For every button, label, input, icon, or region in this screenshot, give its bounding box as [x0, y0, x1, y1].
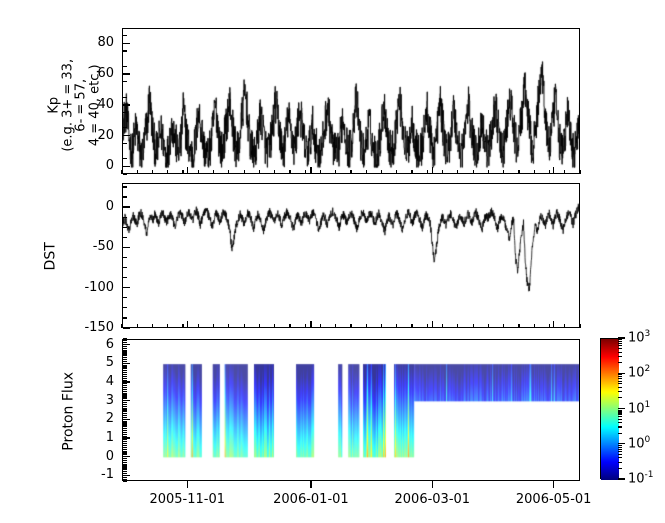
colorbar-minor-tick [618, 445, 622, 446]
xtick-minor [274, 170, 275, 174]
colorbar: 10310210110010-1 [600, 338, 664, 480]
xtick-minor [427, 324, 428, 328]
ytick-minor [123, 376, 127, 377]
ytick-major [123, 437, 130, 438]
colorbar-canvas [601, 339, 619, 480]
ytick-minor [123, 432, 127, 433]
xtick-minor [228, 170, 229, 174]
xtick-minor [442, 324, 443, 328]
xtick-minor [564, 170, 565, 174]
ytick-minor [123, 443, 127, 444]
xtick-minor [320, 324, 321, 328]
colorbar-major-tick [618, 373, 625, 374]
colorbar-gradient [600, 338, 618, 479]
ytick-minor [123, 477, 127, 478]
ytick-label: -100 [66, 281, 114, 294]
ytick-minor [123, 467, 127, 468]
xtick-minor [534, 170, 535, 174]
xtick-minor [121, 170, 122, 174]
xtick-minor [549, 170, 550, 174]
kp-panel [122, 28, 580, 174]
ytick-minor [123, 428, 127, 429]
ytick-minor [123, 196, 127, 197]
xtick-minor [457, 324, 458, 328]
xtick-minor [167, 324, 168, 328]
ytick-major [123, 475, 130, 476]
ytick-minor [123, 357, 127, 358]
ytick-minor [123, 430, 127, 431]
dst-panel [122, 183, 580, 328]
colorbar-minor-tick [618, 451, 622, 452]
xtick-minor [366, 170, 367, 174]
ytick-minor [123, 408, 127, 409]
ytick-minor [123, 340, 127, 341]
ytick-minor [123, 404, 127, 405]
xtick-minor [137, 324, 138, 328]
xtick-major [432, 321, 433, 328]
colorbar-minor-tick [618, 447, 622, 448]
ytick-minor [123, 452, 127, 453]
ytick-minor [123, 143, 127, 144]
xtick-major [310, 167, 311, 174]
xtick-minor [396, 324, 397, 328]
ytick-major [123, 327, 130, 328]
ytick-major [123, 419, 130, 420]
colorbar-minor-tick [618, 362, 622, 363]
ytick-minor [123, 426, 127, 427]
ytick-minor [123, 402, 127, 403]
xtick-major [432, 167, 433, 174]
ytick-minor [123, 366, 127, 367]
xtick-minor [121, 324, 122, 328]
xtick-minor [152, 170, 153, 174]
xtick-minor [152, 324, 153, 328]
ytick-minor [123, 365, 127, 366]
ytick-minor [123, 186, 127, 187]
colorbar-minor-tick [618, 374, 622, 375]
ytick-minor [123, 391, 127, 392]
xtick-minor [579, 170, 580, 174]
ytick-minor [123, 217, 127, 218]
xtick-minor [198, 324, 199, 328]
ytick-minor [123, 479, 127, 480]
xtick-minor [213, 170, 214, 174]
colorbar-major-tick [618, 337, 625, 338]
ytick-major [123, 104, 130, 105]
xtick-minor [289, 324, 290, 328]
ytick-major [123, 363, 130, 364]
ytick-minor [123, 465, 127, 466]
colorbar-minor-tick [618, 422, 622, 423]
ytick-minor [123, 411, 127, 412]
ytick-minor [123, 462, 127, 463]
ytick-minor [123, 112, 127, 113]
xtick-minor [473, 324, 474, 328]
xtick-minor [411, 170, 412, 174]
ytick-minor [123, 394, 127, 395]
xtick-minor [289, 170, 290, 174]
colorbar-major-tick [618, 443, 625, 444]
dst-axis-title: DST [44, 226, 59, 286]
ytick-major [123, 206, 130, 207]
colorbar-major-tick [618, 408, 625, 409]
colorbar-minor-tick [618, 433, 622, 434]
xtick-minor [182, 170, 183, 174]
ytick-major [123, 43, 130, 44]
ytick-minor [123, 385, 127, 386]
ytick-major [123, 135, 130, 136]
colorbar-minor-tick [618, 419, 622, 420]
ytick-minor [123, 447, 127, 448]
ytick-minor [123, 413, 127, 414]
xtick-minor [350, 170, 351, 174]
colorbar-minor-tick [618, 356, 622, 357]
ytick-minor [123, 445, 127, 446]
colorbar-tick-label: 100 [628, 436, 650, 450]
ytick-minor [123, 415, 127, 416]
xtick-minor [381, 170, 382, 174]
colorbar-minor-tick [618, 348, 622, 349]
x-axis-tick-label: 2006-05-01 [494, 493, 614, 506]
xtick-minor [564, 324, 565, 328]
ytick-minor [123, 434, 127, 435]
ytick-minor [123, 378, 127, 379]
x-axis-tick-label: 2006-01-01 [251, 493, 371, 506]
xtick-minor [320, 170, 321, 174]
xtick-minor [579, 324, 580, 328]
xtick-minor [305, 170, 306, 174]
xtick-minor [244, 324, 245, 328]
ytick-minor [123, 389, 127, 390]
ytick-label: -50 [66, 240, 114, 253]
xtick-minor [518, 170, 519, 174]
colorbar-minor-tick [618, 345, 622, 346]
ytick-minor [123, 406, 127, 407]
colorbar-minor-tick [618, 454, 622, 455]
ytick-major [123, 287, 130, 288]
ytick-minor [123, 480, 127, 481]
colorbar-minor-tick [618, 449, 622, 450]
colorbar-minor-tick [618, 381, 622, 382]
ytick-minor [123, 338, 127, 339]
xtick-minor [335, 324, 336, 328]
figure-canvas: 806040200 Kp (e.g. 3+ = 33, 6- = 57, 4 =… [0, 0, 665, 523]
colorbar-minor-tick [618, 343, 622, 344]
ytick-minor [123, 127, 127, 128]
ytick-minor [123, 237, 127, 238]
ytick-major [123, 247, 130, 248]
colorbar-minor-tick [618, 397, 622, 398]
xtick-major [553, 167, 554, 174]
colorbar-tick-label: 10-1 [628, 471, 654, 485]
ytick-minor [123, 439, 127, 440]
colorbar-tick-label: 103 [628, 330, 650, 344]
xtick-minor [534, 324, 535, 328]
ytick-minor [123, 422, 127, 423]
ytick-major [123, 456, 130, 457]
xtick-minor [427, 170, 428, 174]
colorbar-minor-tick [618, 391, 622, 392]
ytick-minor [123, 35, 127, 36]
ytick-minor [123, 227, 127, 228]
xtick-major [310, 321, 311, 328]
xtick-minor [182, 324, 183, 328]
ytick-minor [123, 353, 127, 354]
xtick-minor [366, 324, 367, 328]
xtick-major [187, 321, 188, 328]
ytick-minor [123, 421, 127, 422]
ytick-major [123, 166, 130, 167]
colorbar-minor-tick [618, 383, 622, 384]
ytick-minor [123, 158, 127, 159]
ytick-minor [123, 464, 127, 465]
colorbar-minor-tick [618, 468, 622, 469]
xtick-minor [381, 324, 382, 328]
ytick-minor [123, 267, 127, 268]
ytick-minor [123, 355, 127, 356]
xtick-minor [442, 170, 443, 174]
xtick-minor [518, 324, 519, 328]
xtick-minor [350, 324, 351, 328]
ytick-minor [123, 317, 127, 318]
ytick-minor [123, 97, 127, 98]
ytick-minor [123, 351, 127, 352]
ytick-minor [123, 50, 127, 51]
ytick-minor [123, 449, 127, 450]
xtick-minor [305, 324, 306, 328]
ytick-minor [123, 460, 127, 461]
xtick-minor [259, 324, 260, 328]
colorbar-minor-tick [618, 378, 622, 379]
xtick-minor [488, 324, 489, 328]
xtick-minor [335, 170, 336, 174]
ytick-minor [123, 372, 127, 373]
colorbar-minor-tick [618, 387, 622, 388]
ytick-label: -1 [66, 468, 114, 481]
colorbar-minor-tick [618, 426, 622, 427]
xtick-minor [167, 170, 168, 174]
dst-series-plot [123, 184, 580, 328]
xtick-major-outer [553, 481, 554, 488]
colorbar-minor-tick [618, 352, 622, 353]
xtick-minor [137, 170, 138, 174]
colorbar-minor-tick [618, 462, 622, 463]
ytick-minor [123, 348, 127, 349]
ytick-major [123, 73, 130, 74]
ytick-minor [123, 469, 127, 470]
ytick-minor [123, 307, 127, 308]
xtick-major [553, 321, 554, 328]
ytick-major [123, 344, 130, 345]
colorbar-tick-label: 102 [628, 365, 650, 379]
xtick-minor [503, 324, 504, 328]
ytick-minor [123, 81, 127, 82]
colorbar-minor-tick [618, 416, 622, 417]
proton-flux-axis-title: Proton Flux [62, 356, 77, 466]
colorbar-tick-label: 101 [628, 401, 650, 415]
ytick-minor [123, 451, 127, 452]
ytick-major [123, 381, 130, 382]
ytick-minor [123, 370, 127, 371]
xtick-major-outer [187, 481, 188, 488]
ytick-minor [123, 471, 127, 472]
ytick-minor [123, 383, 127, 384]
ytick-minor [123, 393, 127, 394]
xtick-minor [488, 170, 489, 174]
xtick-minor [549, 324, 550, 328]
ytick-minor [123, 458, 127, 459]
ytick-minor [123, 424, 127, 425]
xtick-minor [198, 170, 199, 174]
ytick-label: 6 [66, 338, 114, 351]
proton-flux-heatmap [123, 340, 580, 481]
xtick-minor [457, 170, 458, 174]
kp-axis-title: Kp (e.g. 3+ = 33, 6- = 57, 4 = 40, etc.) [48, 25, 103, 185]
proton-flux-panel [122, 339, 580, 481]
xtick-minor [274, 324, 275, 328]
ytick-minor [123, 350, 127, 351]
x-axis-tick-label: 2005-11-01 [127, 493, 247, 506]
ytick-minor [123, 66, 127, 67]
ytick-minor [123, 359, 127, 360]
xtick-major-outer [432, 481, 433, 488]
colorbar-minor-tick [618, 411, 622, 412]
ytick-minor [123, 277, 127, 278]
xtick-minor [473, 170, 474, 174]
ytick-minor [123, 441, 127, 442]
xtick-minor [213, 324, 214, 328]
ytick-minor [123, 346, 127, 347]
colorbar-minor-tick [618, 339, 622, 340]
colorbar-minor-tick [618, 410, 622, 411]
xtick-major [187, 167, 188, 174]
colorbar-minor-tick [618, 457, 622, 458]
x-axis-tick-label: 2006-03-01 [372, 493, 492, 506]
colorbar-minor-tick [618, 341, 622, 342]
ytick-major [123, 400, 130, 401]
ytick-minor [123, 297, 127, 298]
ytick-minor [123, 368, 127, 369]
xtick-minor [411, 324, 412, 328]
kp-series-plot [123, 29, 580, 174]
ytick-minor [123, 387, 127, 388]
ytick-minor [123, 257, 127, 258]
xtick-minor [259, 170, 260, 174]
ytick-minor [123, 173, 127, 174]
ytick-minor [123, 409, 127, 410]
xtick-minor [244, 170, 245, 174]
ytick-label: -150 [66, 321, 114, 334]
ytick-minor [123, 396, 127, 397]
ytick-minor [123, 374, 127, 375]
colorbar-minor-tick [618, 413, 622, 414]
xtick-minor [396, 170, 397, 174]
xtick-minor [228, 324, 229, 328]
xtick-major-outer [310, 481, 311, 488]
colorbar-minor-tick [618, 376, 622, 377]
colorbar-major-tick [618, 478, 625, 479]
xtick-minor [503, 170, 504, 174]
ytick-label: 0 [66, 200, 114, 213]
